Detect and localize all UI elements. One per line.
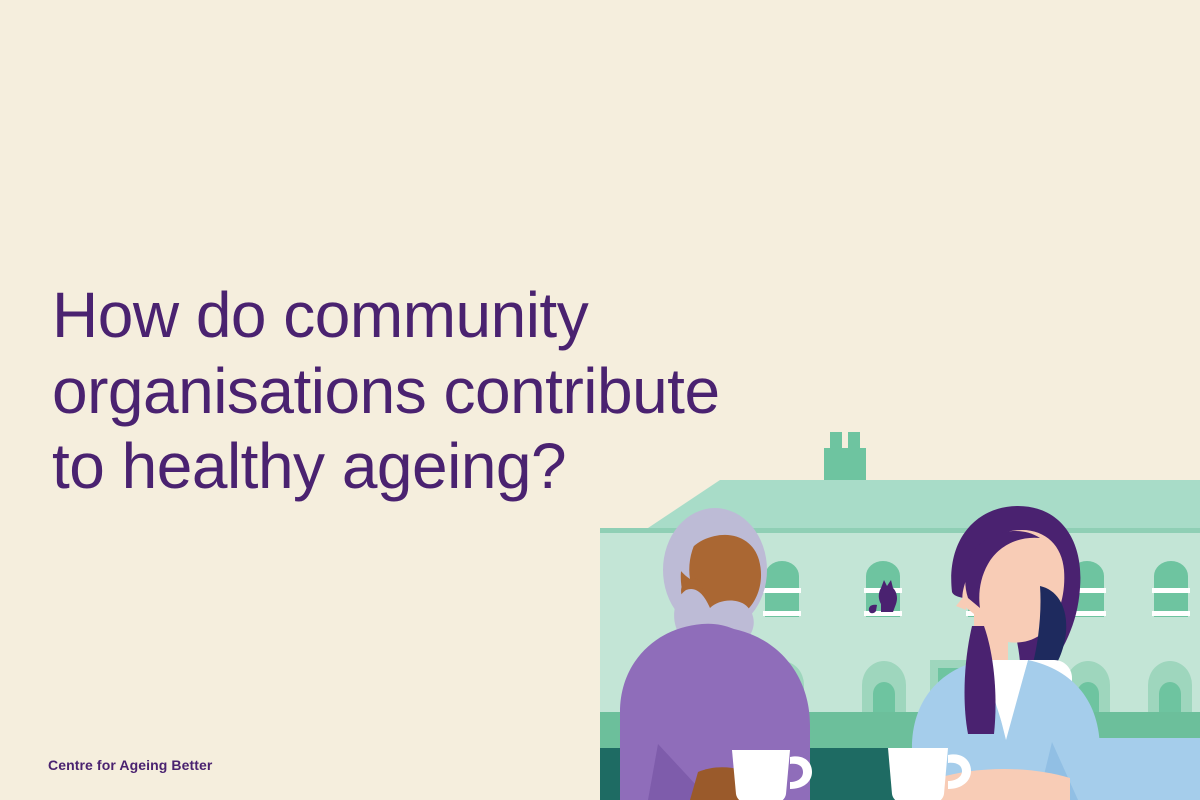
organisation-logo: Centre for Ageing Better	[48, 757, 212, 773]
page-title: How do community organisations contribut…	[52, 278, 812, 505]
slide-canvas: How do community organisations contribut…	[0, 0, 1200, 800]
woman-ear	[1018, 584, 1042, 616]
